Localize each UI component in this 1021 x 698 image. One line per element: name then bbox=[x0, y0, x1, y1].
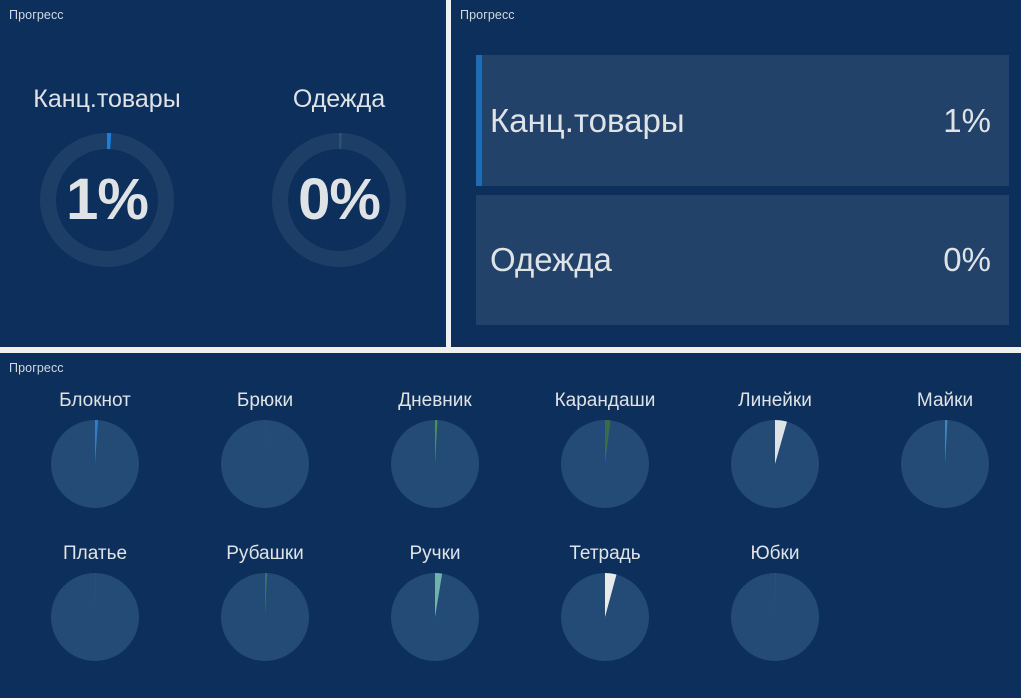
bar-list: Канц.товары 1% Одежда 0% bbox=[476, 55, 1009, 325]
bar-label: Канц.товары bbox=[490, 104, 685, 137]
pie-svg bbox=[731, 420, 819, 508]
pie-item[interactable]: Ручки bbox=[350, 544, 520, 661]
pie-chart bbox=[901, 420, 989, 508]
pie-label: Дневник bbox=[398, 391, 471, 410]
pie-svg bbox=[391, 420, 479, 508]
pie-label: Линейки bbox=[738, 391, 812, 410]
gauge-value: 0% bbox=[265, 126, 413, 274]
pie-item[interactable]: Платье bbox=[10, 544, 180, 661]
pie-svg bbox=[561, 420, 649, 508]
bar-value: 0% bbox=[943, 243, 991, 276]
bar-accent-stripe bbox=[476, 55, 482, 186]
gauge-value: 1% bbox=[33, 126, 181, 274]
pie-svg bbox=[51, 420, 139, 508]
pie-label: Карандаши bbox=[555, 391, 656, 410]
pie-svg bbox=[901, 420, 989, 508]
pie-label: Майки bbox=[917, 391, 973, 410]
bar-row[interactable]: Канц.товары 1% bbox=[476, 55, 1009, 186]
gauge-list: Канц.товары 1% Одежда 0% bbox=[0, 0, 446, 347]
gauge-dial: 1% bbox=[33, 126, 181, 274]
pie-item[interactable]: Юбки bbox=[690, 544, 860, 661]
panel-bars-title: Прогресс bbox=[460, 9, 515, 22]
pie-grid: Блокнот Брюки Дневник Карандаши Линейки … bbox=[10, 391, 1011, 692]
pie-chart bbox=[221, 573, 309, 661]
pie-label: Ручки bbox=[410, 544, 461, 563]
pie-item[interactable]: Брюки bbox=[180, 391, 350, 508]
pie-chart bbox=[391, 420, 479, 508]
pie-item[interactable]: Блокнот bbox=[10, 391, 180, 508]
pie-chart bbox=[731, 573, 819, 661]
panel-pies-title: Прогресс bbox=[9, 362, 64, 375]
dashboard: Прогресс Канц.товары 1% Одежда bbox=[0, 0, 1021, 698]
pie-chart bbox=[51, 420, 139, 508]
pie-chart bbox=[731, 420, 819, 508]
pie-row-2: Платье Рубашки Ручки Тетрадь Юбки bbox=[10, 544, 1011, 693]
pie-svg bbox=[561, 573, 649, 661]
bar-value: 1% bbox=[943, 104, 991, 137]
gauge-dial: 0% bbox=[265, 126, 413, 274]
panel-pies: Прогресс Блокнот Брюки Дневник Карандаши… bbox=[0, 353, 1021, 698]
pie-row-1: Блокнот Брюки Дневник Карандаши Линейки … bbox=[10, 391, 1011, 540]
gauge-item[interactable]: Канц.товары 1% bbox=[27, 87, 187, 274]
pie-svg bbox=[221, 420, 309, 508]
gauge-label: Канц.товары bbox=[33, 87, 180, 112]
pie-item[interactable]: Тетрадь bbox=[520, 544, 690, 661]
pie-svg bbox=[731, 573, 819, 661]
pie-svg bbox=[221, 573, 309, 661]
pie-item[interactable]: Дневник bbox=[350, 391, 520, 508]
pie-label: Блокнот bbox=[59, 391, 131, 410]
pie-label: Рубашки bbox=[226, 544, 304, 563]
pie-item[interactable]: Линейки bbox=[690, 391, 860, 508]
pie-chart bbox=[561, 573, 649, 661]
pie-svg bbox=[391, 573, 479, 661]
pie-label: Брюки bbox=[237, 391, 293, 410]
pie-chart bbox=[561, 420, 649, 508]
pie-label: Платье bbox=[63, 544, 127, 563]
pie-item[interactable]: Карандаши bbox=[520, 391, 690, 508]
pie-item[interactable]: Майки bbox=[860, 391, 1021, 508]
bar-label: Одежда bbox=[490, 243, 612, 276]
pie-chart bbox=[51, 573, 139, 661]
panel-gauges: Прогресс Канц.товары 1% Одежда bbox=[0, 0, 446, 347]
pie-item[interactable]: Рубашки bbox=[180, 544, 350, 661]
gauge-label: Одежда bbox=[293, 87, 385, 112]
panel-bars: Прогресс Канц.товары 1% Одежда 0% bbox=[451, 0, 1021, 347]
pie-label: Юбки bbox=[750, 544, 799, 563]
bar-row[interactable]: Одежда 0% bbox=[476, 195, 1009, 326]
pie-svg bbox=[51, 573, 139, 661]
pie-chart bbox=[391, 573, 479, 661]
gauge-item[interactable]: Одежда 0% bbox=[259, 87, 419, 274]
pie-label: Тетрадь bbox=[569, 544, 640, 563]
pie-chart bbox=[221, 420, 309, 508]
